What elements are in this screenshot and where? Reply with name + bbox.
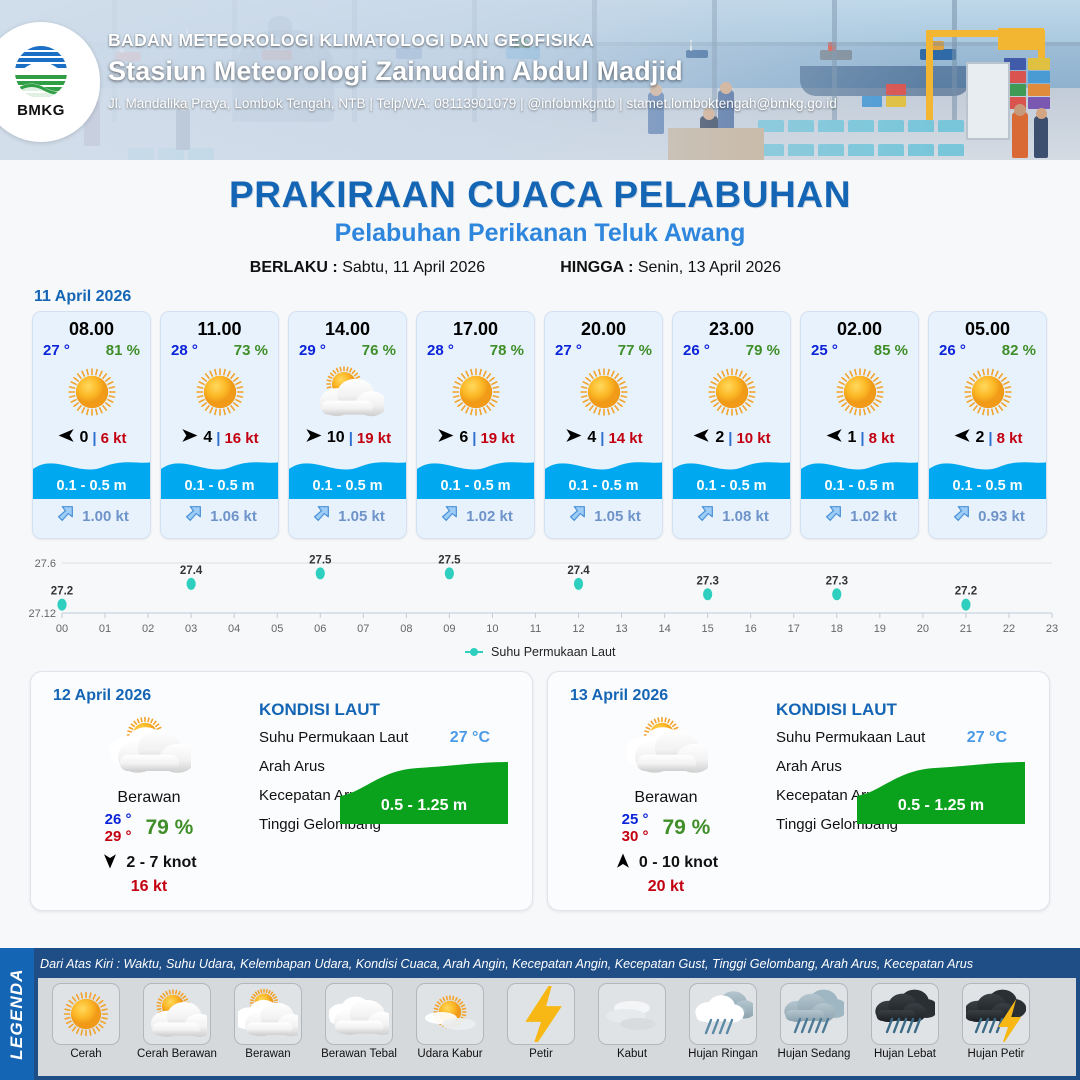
legend-item: Berawan [226, 983, 310, 1076]
svg-text:10: 10 [486, 623, 498, 635]
daily-forecast-panel: 12 April 2026 Berawan 26 ° [30, 671, 533, 911]
svg-text:27.3: 27.3 [826, 575, 848, 587]
svg-text:19: 19 [874, 623, 886, 635]
card-wind-separator: | [860, 430, 864, 447]
card-wave: 0.1 - 0.5 m [929, 455, 1046, 499]
page-header: BMKG BADAN METEOROLOGI KLIMATOLOGI DAN G… [0, 0, 1080, 160]
legend-item-label: Hujan Lebat [863, 1048, 947, 1060]
page-title: PRAKIRAAN CUACA PELABUHAN [0, 174, 1080, 216]
sea-row-sst-value: 27 °C [450, 729, 490, 747]
svg-text:27.12: 27.12 [28, 608, 56, 620]
legend-item: Kabut [590, 983, 674, 1076]
daily-condition: Berawan [49, 789, 249, 807]
card-current-speed: 1.08 kt [722, 508, 769, 525]
wind-direction-arrow-icon [436, 426, 455, 450]
card-current: 1.05 kt [289, 499, 406, 538]
wind-direction-arrow-icon [564, 426, 583, 450]
card-wind-separator: | [988, 430, 992, 447]
card-time: 14.00 [289, 312, 406, 342]
sea-conditions-header: KONDISI LAUT [776, 700, 1035, 720]
svg-text:07: 07 [357, 623, 369, 635]
card-wind-direction: 0 [80, 429, 89, 447]
chart-legend: Suhu Permukaan Laut [20, 645, 1060, 660]
svg-text:27.2: 27.2 [51, 586, 73, 598]
card-current: 0.93 kt [929, 499, 1046, 538]
page-subtitle: Pelabuhan Perikanan Teluk Awang [0, 219, 1080, 248]
daily-wind: 2 - 7 knot [49, 852, 249, 875]
legend-item-icon [416, 983, 484, 1045]
daily-forecast-panel: 13 April 2026 Berawan 25 ° [547, 671, 1050, 911]
card-wind-speed: 19 kt [357, 430, 391, 447]
card-humidity: 73 % [234, 342, 268, 359]
current-direction-arrow-icon [310, 503, 332, 530]
bmkg-logo-text: BMKG [17, 102, 65, 119]
svg-text:18: 18 [831, 623, 843, 635]
svg-text:00: 00 [56, 623, 68, 635]
hourly-card: 02.00 25 ° 85 % 1 | 8 kt [800, 311, 919, 539]
card-current-speed: 0.93 kt [978, 508, 1025, 525]
card-wind-speed: 19 kt [480, 430, 514, 447]
svg-text:02: 02 [142, 623, 154, 635]
svg-text:16: 16 [745, 623, 757, 635]
card-current: 1.02 kt [417, 499, 534, 538]
sst-legend-marker [465, 646, 483, 660]
wind-direction-arrow-icon [692, 426, 711, 450]
station-name: Stasiun Meteorologi Zainuddin Abdul Madj… [108, 56, 837, 87]
daily-sea-conditions: KONDISI LAUT Suhu Permukaan Laut 27 °C A… [776, 700, 1035, 836]
wind-direction-arrow-icon [304, 426, 323, 450]
card-current: 1.02 kt [801, 499, 918, 538]
legend-item-label: Kabut [590, 1048, 674, 1060]
daily-condition: Berawan [566, 789, 766, 807]
card-wind-speed: 8 kt [869, 430, 895, 447]
card-humidity: 78 % [490, 342, 524, 359]
svg-text:09: 09 [443, 623, 455, 635]
daily-humidity: 79 % [662, 816, 710, 840]
daily-temp-max: 29 ° [105, 828, 132, 845]
hourly-forecast-row: 08.00 27 ° 81 % 0 | 6 kt [0, 311, 1080, 539]
daily-temps: 25 ° 30 ° 79 % [566, 811, 766, 846]
sea-row-sst-label: Suhu Permukaan Laut [776, 729, 925, 746]
daily-sea-conditions: KONDISI LAUT Suhu Permukaan Laut 27 °C A… [259, 700, 518, 836]
card-wave: 0.1 - 0.5 m [545, 455, 662, 499]
card-wind-speed: 16 kt [224, 430, 258, 447]
card-wave: 0.1 - 0.5 m [33, 455, 150, 499]
card-weather-icon [161, 361, 278, 423]
legend-item-icon [780, 983, 848, 1045]
daily-date: 12 April 2026 [53, 687, 151, 705]
svg-text:17: 17 [788, 623, 800, 635]
daily-wind-arrow-icon [101, 852, 119, 875]
card-wind-direction: 2 [976, 429, 985, 447]
card-temp-humidity: 28 ° 78 % [417, 342, 534, 361]
svg-text:27.5: 27.5 [438, 554, 461, 566]
sea-row-current-direction-label: Arah Arus [259, 758, 325, 775]
legend-item-icon [325, 983, 393, 1045]
card-temp-humidity: 26 ° 82 % [929, 342, 1046, 361]
sst-chart: 27.627.120001020304050607080910111213141… [20, 551, 1060, 661]
sea-row-sst: Suhu Permukaan Laut 27 °C [259, 729, 518, 749]
sea-row-sst-label: Suhu Permukaan Laut [259, 729, 408, 746]
card-temperature: 25 ° [811, 342, 838, 359]
card-wind-direction: 2 [715, 429, 724, 447]
legend-item-label: Petir [499, 1048, 583, 1060]
card-wave: 0.1 - 0.5 m [289, 455, 406, 499]
legend-item: Hujan Lebat [863, 983, 947, 1076]
legend-item-label: Udara Kabur [408, 1048, 492, 1060]
card-temperature: 26 ° [939, 342, 966, 359]
card-temperature: 27 ° [43, 342, 70, 359]
current-direction-arrow-icon [54, 503, 76, 530]
card-temperature: 29 ° [299, 342, 326, 359]
card-wind-separator: | [216, 430, 220, 447]
card-wind: 10 | 19 kt [289, 423, 406, 455]
svg-text:05: 05 [271, 623, 283, 635]
validity-row: BERLAKU : Sabtu, 11 April 2026 HINGGA : … [0, 259, 1080, 277]
hourly-card: 08.00 27 ° 81 % 0 | 6 kt [32, 311, 151, 539]
card-wave: 0.1 - 0.5 m [801, 455, 918, 499]
chart-legend-label: Suhu Permukaan Laut [491, 645, 615, 659]
legend-item-icon [234, 983, 302, 1045]
legend-item-icon [143, 983, 211, 1045]
card-time: 20.00 [545, 312, 662, 342]
card-temperature: 26 ° [683, 342, 710, 359]
svg-text:14: 14 [658, 623, 670, 635]
card-current-speed: 1.02 kt [466, 508, 513, 525]
daily-humidity: 79 % [145, 816, 193, 840]
hingga-value: Senin, 13 April 2026 [638, 259, 781, 276]
legend-item-icon [962, 983, 1030, 1045]
card-wind: 0 | 6 kt [33, 423, 150, 455]
sea-row-current-direction-label: Arah Arus [776, 758, 842, 775]
card-time: 05.00 [929, 312, 1046, 342]
card-time: 08.00 [33, 312, 150, 342]
card-wave: 0.1 - 0.5 m [161, 455, 278, 499]
card-wind-speed: 14 kt [608, 430, 642, 447]
card-weather-icon [929, 361, 1046, 423]
daily-wind: 0 - 10 knot [566, 852, 766, 875]
card-wind: 4 | 14 kt [545, 423, 662, 455]
legend-item: Berawan Tebal [317, 983, 401, 1076]
svg-text:11: 11 [530, 623, 541, 635]
hourly-card: 20.00 27 ° 77 % 4 | 14 kt [544, 311, 663, 539]
legend-item-icon [52, 983, 120, 1045]
card-wind-separator: | [349, 430, 353, 447]
card-wind: 1 | 8 kt [801, 423, 918, 455]
card-weather-icon [673, 361, 790, 423]
hingga-label: HINGGA : [560, 259, 633, 276]
agency-name: BADAN METEOROLOGI KLIMATOLOGI DAN GEOFIS… [108, 30, 837, 51]
svg-text:27.6: 27.6 [35, 558, 56, 570]
svg-text:03: 03 [185, 623, 197, 635]
card-weather-icon [33, 361, 150, 423]
card-temp-humidity: 26 ° 79 % [673, 342, 790, 361]
current-direction-arrow-icon [694, 503, 716, 530]
card-current: 1.06 kt [161, 499, 278, 538]
card-current-speed: 1.05 kt [338, 508, 385, 525]
legend-side-label: LEGENDA [0, 948, 34, 1080]
header-text-block: BADAN METEOROLOGI KLIMATOLOGI DAN GEOFIS… [108, 30, 837, 111]
daily-temp-min: 25 ° [622, 811, 649, 828]
bmkg-logo-mark [10, 45, 72, 101]
card-humidity: 77 % [618, 342, 652, 359]
legend-items: Cerah Cerah Berawan [38, 978, 1076, 1076]
daily-wind-range: 2 - 7 knot [126, 854, 196, 872]
svg-text:13: 13 [615, 623, 627, 635]
card-wind-direction: 1 [848, 429, 857, 447]
daily-gust: 16 kt [49, 878, 249, 896]
hourly-card: 23.00 26 ° 79 % 2 | 10 kt [672, 311, 791, 539]
daily-temp-min: 26 ° [105, 811, 132, 828]
hourly-date-label: 11 April 2026 [34, 288, 1080, 306]
legend-item-label: Cerah [44, 1048, 128, 1060]
wind-direction-arrow-icon [57, 426, 76, 450]
card-current-speed: 1.05 kt [594, 508, 641, 525]
legend-item-label: Hujan Petir [954, 1048, 1038, 1060]
hourly-card: 17.00 28 ° 78 % 6 | 19 kt [416, 311, 535, 539]
card-wind-direction: 4 [203, 429, 212, 447]
current-direction-arrow-icon [950, 503, 972, 530]
card-wind-speed: 10 kt [736, 430, 770, 447]
current-direction-arrow-icon [822, 503, 844, 530]
berlaku-label: BERLAKU : [250, 259, 338, 276]
daily-wind-arrow-icon [614, 852, 632, 875]
legend-item: Udara Kabur [408, 983, 492, 1076]
daily-wave-height-value: 0.5 - 1.25 m [340, 797, 508, 815]
card-current: 1.08 kt [673, 499, 790, 538]
legend-item: Hujan Sedang [772, 983, 856, 1076]
daily-forecast-row: 12 April 2026 Berawan 26 ° [0, 661, 1080, 911]
sea-row-sst: Suhu Permukaan Laut 27 °C [776, 729, 1035, 749]
svg-text:27.4: 27.4 [180, 565, 203, 577]
daily-wind-range: 0 - 10 knot [639, 854, 718, 872]
card-humidity: 82 % [1002, 342, 1036, 359]
legend-item: Cerah [44, 983, 128, 1076]
title-block: PRAKIRAAN CUACA PELABUHAN Pelabuhan Peri… [0, 160, 1080, 277]
card-humidity: 79 % [746, 342, 780, 359]
legend-item: Cerah Berawan [135, 983, 219, 1076]
card-temperature: 28 ° [427, 342, 454, 359]
svg-text:23: 23 [1046, 623, 1058, 635]
card-temp-humidity: 29 ° 76 % [289, 342, 406, 361]
svg-text:22: 22 [1003, 623, 1015, 635]
card-weather-icon [545, 361, 662, 423]
card-current-speed: 1.06 kt [210, 508, 257, 525]
svg-text:15: 15 [702, 623, 714, 635]
card-wave: 0.1 - 0.5 m [417, 455, 534, 499]
card-wave-height: 0.1 - 0.5 m [545, 478, 662, 494]
svg-text:06: 06 [314, 623, 326, 635]
card-time: 02.00 [801, 312, 918, 342]
daily-temp-max: 30 ° [622, 828, 649, 845]
card-wave: 0.1 - 0.5 m [673, 455, 790, 499]
card-weather-icon [289, 361, 406, 423]
card-humidity: 85 % [874, 342, 908, 359]
card-wind: 2 | 10 kt [673, 423, 790, 455]
card-current-speed: 1.00 kt [82, 508, 129, 525]
card-wave-height: 0.1 - 0.5 m [289, 478, 406, 494]
legend-bar: LEGENDA Dari Atas Kiri : Waktu, Suhu Uda… [0, 948, 1080, 1080]
card-wind-speed: 6 kt [101, 430, 127, 447]
card-current-speed: 1.02 kt [850, 508, 897, 525]
legend-item-icon [871, 983, 939, 1045]
daily-weather-icon [566, 710, 766, 787]
legend-item-icon [689, 983, 757, 1045]
hourly-card: 14.00 29 ° 76 % 10 | 19 kt [288, 311, 407, 539]
legend-note: Dari Atas Kiri : Waktu, Suhu Udara, Kele… [40, 957, 973, 971]
card-temp-humidity: 27 ° 77 % [545, 342, 662, 361]
card-wind-separator: | [728, 430, 732, 447]
card-wave-height: 0.1 - 0.5 m [801, 478, 918, 494]
daily-date: 13 April 2026 [570, 687, 668, 705]
svg-text:27.3: 27.3 [696, 575, 718, 587]
card-temp-humidity: 27 ° 81 % [33, 342, 150, 361]
card-wind-direction: 4 [587, 429, 596, 447]
legend-item-label: Berawan Tebal [317, 1048, 401, 1060]
svg-text:08: 08 [400, 623, 412, 635]
svg-text:12: 12 [572, 623, 584, 635]
legend-item-label: Hujan Sedang [772, 1048, 856, 1060]
card-wind-speed: 8 kt [997, 430, 1023, 447]
card-wave-height: 0.1 - 0.5 m [33, 478, 150, 494]
daily-wave-height-value: 0.5 - 1.25 m [857, 797, 1025, 815]
legend-item-label: Cerah Berawan [135, 1048, 219, 1060]
daily-wave-badge: 0.5 - 1.25 m [857, 762, 1025, 824]
legend-item: Petir [499, 983, 583, 1076]
current-direction-arrow-icon [182, 503, 204, 530]
wind-direction-arrow-icon [953, 426, 972, 450]
card-wind: 6 | 19 kt [417, 423, 534, 455]
sea-conditions-header: KONDISI LAUT [259, 700, 518, 720]
svg-text:27.2: 27.2 [955, 586, 977, 598]
svg-text:27.5: 27.5 [309, 554, 332, 566]
svg-text:01: 01 [99, 623, 111, 635]
hourly-card: 05.00 26 ° 82 % 2 | 8 kt [928, 311, 1047, 539]
card-temperature: 28 ° [171, 342, 198, 359]
card-wave-height: 0.1 - 0.5 m [161, 478, 278, 494]
card-wind: 2 | 8 kt [929, 423, 1046, 455]
svg-text:04: 04 [228, 623, 240, 635]
card-temperature: 27 ° [555, 342, 582, 359]
card-weather-icon [801, 361, 918, 423]
daily-summary: Berawan 26 ° 29 ° 79 % 2 - 7 knot 16 kt [49, 710, 249, 896]
card-current: 1.00 kt [33, 499, 150, 538]
daily-wave-badge: 0.5 - 1.25 m [340, 762, 508, 824]
contact-info: Jl. Mandalika Praya, Lombok Tengah, NTB … [108, 96, 837, 111]
daily-summary: Berawan 25 ° 30 ° 79 % 0 - 10 knot 20 kt [566, 710, 766, 896]
legend-item-label: Berawan [226, 1048, 310, 1060]
daily-weather-icon [49, 710, 249, 787]
card-wave-height: 0.1 - 0.5 m [673, 478, 790, 494]
card-wind-separator: | [472, 430, 476, 447]
card-wind-direction: 10 [327, 429, 345, 447]
card-humidity: 81 % [106, 342, 140, 359]
legend-item: Hujan Ringan [681, 983, 765, 1076]
wind-direction-arrow-icon [180, 426, 199, 450]
svg-text:27.4: 27.4 [567, 565, 590, 577]
daily-gust: 20 kt [566, 878, 766, 896]
card-time: 11.00 [161, 312, 278, 342]
legend-item-icon [507, 983, 575, 1045]
svg-text:20: 20 [917, 623, 929, 635]
card-wind: 4 | 16 kt [161, 423, 278, 455]
wind-direction-arrow-icon [825, 426, 844, 450]
card-weather-icon [417, 361, 534, 423]
sea-row-sst-value: 27 °C [967, 729, 1007, 747]
current-direction-arrow-icon [566, 503, 588, 530]
card-wind-direction: 6 [459, 429, 468, 447]
card-time: 17.00 [417, 312, 534, 342]
card-wave-height: 0.1 - 0.5 m [929, 478, 1046, 494]
card-wind-separator: | [600, 430, 604, 447]
card-time: 23.00 [673, 312, 790, 342]
legend-item-icon [598, 983, 666, 1045]
berlaku-value: Sabtu, 11 April 2026 [342, 259, 485, 276]
legend-item-label: Hujan Ringan [681, 1048, 765, 1060]
card-temp-humidity: 28 ° 73 % [161, 342, 278, 361]
card-temp-humidity: 25 ° 85 % [801, 342, 918, 361]
daily-temps: 26 ° 29 ° 79 % [49, 811, 249, 846]
card-humidity: 76 % [362, 342, 396, 359]
card-wave-height: 0.1 - 0.5 m [417, 478, 534, 494]
legend-item: Hujan Petir [954, 983, 1038, 1076]
hourly-card: 11.00 28 ° 73 % 4 | 16 kt [160, 311, 279, 539]
svg-text:21: 21 [960, 623, 972, 635]
card-wind-separator: | [92, 430, 96, 447]
card-current: 1.05 kt [545, 499, 662, 538]
current-direction-arrow-icon [438, 503, 460, 530]
